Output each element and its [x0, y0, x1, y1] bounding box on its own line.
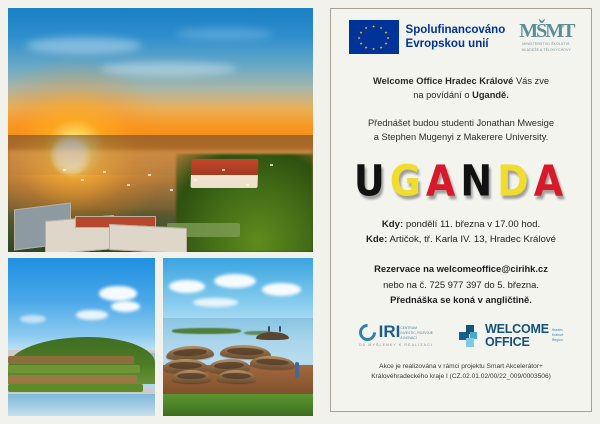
- invitation-line1: Welcome Office Hradec Králové Vás zve: [345, 74, 577, 88]
- lecturers-text: Přednášet budou studenti Jonathan Mwesig…: [345, 116, 577, 145]
- ministry-name-line1: MINISTERSTVO ŠKOLSTVÍ,: [522, 42, 570, 47]
- event-when: Kdy: pondělí 11. března v 17.00 hod.: [345, 217, 577, 232]
- invitation-rest: Vás zve: [513, 76, 549, 86]
- uganda-letter-1: G: [390, 156, 426, 205]
- fisherman: [268, 326, 270, 332]
- when-label: Kdy:: [382, 219, 403, 230]
- eu-flag-icon: [349, 20, 399, 54]
- person-standing: [295, 362, 299, 378]
- welcome-office-sub3: Region: [552, 338, 564, 343]
- event-details: Kdy: pondělí 11. března v 17.00 hod. Kde…: [345, 217, 577, 248]
- terrace-band: [8, 356, 134, 364]
- poster: Spolufinancováno Evropskou unií MŠMT MIN…: [0, 0, 600, 424]
- invitation-line2-pre: na povídání o: [413, 90, 472, 100]
- cloud: [169, 280, 205, 293]
- distant-boat: [256, 332, 289, 340]
- grass-foreground: [163, 394, 313, 416]
- fishing-canoes-photo: [163, 258, 313, 416]
- ministry-name-line2: MLÁDEŽE A TĚLOVÝCHOVY: [522, 48, 571, 53]
- where-label: Kde:: [366, 234, 387, 245]
- invitation-line2: na povídání o Ugandě.: [345, 88, 577, 102]
- terrace-band: [8, 375, 137, 383]
- partner-logo-bar: IRI CENTRUM INVESTIC, ROZVOJE A INOVACÍ …: [331, 323, 591, 349]
- terrace-band: [8, 384, 143, 392]
- ciri-fullname-line3: A INOVACÍ: [400, 336, 433, 341]
- uganda-letter-3: N: [460, 156, 497, 205]
- cloud: [20, 315, 46, 323]
- cloud-wisp: [100, 62, 237, 77]
- funding-logo-bar: Spolufinancováno Evropskou unií MŠMT MIN…: [331, 9, 591, 58]
- fisherman: [279, 326, 281, 332]
- organizer-name: Welcome Office Hradec Králové: [373, 76, 513, 86]
- lecturers-line2: a Stephen Mugenyi z Makerere University.: [345, 130, 577, 144]
- cloud: [193, 298, 238, 307]
- welcome-office-logo: WELCOME OFFICE Hradec Králové Region: [459, 323, 563, 349]
- ciri-tagline: OD MYŠLENKY K REALIZACI: [359, 343, 433, 347]
- reservation-phone-line: nebo na č. 725 977 397 do 5. března.: [345, 277, 577, 292]
- ciri-c-icon: [355, 321, 379, 345]
- terraced-hills-photo: [8, 258, 155, 416]
- when-value: pondělí 11. března v 17.00 hod.: [403, 219, 540, 230]
- uganda-letter-0: U: [354, 156, 390, 205]
- ministry-logo: MŠMT MINISTERSTVO ŠKOLSTVÍ, MLÁDEŽE A TĚ…: [519, 21, 573, 53]
- eu-funding-logo: Spolufinancováno Evropskou unií: [349, 20, 506, 54]
- rooftop: [109, 224, 187, 252]
- welcome-office-line1: WELCOME: [485, 323, 549, 336]
- uganda-letter-5: A: [534, 156, 568, 205]
- event-where: Kde: Artičok, tř. Karla IV. 13, Hradec K…: [345, 232, 577, 247]
- uganda-letter-4: D: [497, 156, 534, 205]
- info-panel: Spolufinancováno Evropskou unií MŠMT MIN…: [330, 8, 592, 412]
- canoe: [217, 370, 256, 383]
- lake-foreground: [8, 394, 155, 416]
- project-footer-line1: Akce je realizována v rámci projektu Sma…: [341, 362, 581, 373]
- where-value: Artičok, tř. Karla IV. 13, Hradec Králov…: [387, 234, 556, 245]
- eu-funding-line1: Spolufinancováno: [406, 23, 506, 37]
- lecturers-line1: Přednášet budou studenti Jonathan Mwesig…: [345, 116, 577, 130]
- project-footer: Akce je realizována v rámci projektu Sma…: [341, 362, 581, 383]
- language-note: Přednáška se koná v angličtině.: [345, 292, 577, 307]
- invitation-text: Welcome Office Hradec Králové Vás zve na…: [345, 74, 577, 103]
- ciri-logo: IRI CENTRUM INVESTIC, ROZVOJE A INOVACÍ …: [359, 324, 433, 347]
- ciri-fullname: CENTRUM INVESTIC, ROZVOJE A INOVACÍ: [400, 326, 433, 341]
- cloud: [262, 283, 301, 296]
- uganda-title: UGANDA: [331, 159, 591, 203]
- project-footer-line2: Královéhradeckého kraje I (CZ.02.01.02/0…: [341, 372, 581, 383]
- topic-name: Ugandě.: [472, 90, 509, 100]
- cloud: [214, 274, 256, 288]
- welcome-office-line2: OFFICE: [485, 336, 549, 349]
- reservation-email[interactable]: Rezervace na welcomeoffice@cirihk.cz: [374, 263, 548, 274]
- cloud: [99, 286, 137, 300]
- uganda-letter-2: A: [426, 156, 460, 205]
- cloud: [76, 310, 108, 319]
- plus-cross-icon: [459, 325, 481, 347]
- msmt-monogram: MŠMT: [519, 21, 573, 41]
- cloud-wisp: [176, 28, 274, 40]
- eu-funding-text: Spolufinancováno Evropskou unií: [406, 23, 506, 51]
- reservation-email-line: Rezervace na welcomeoffice@cirihk.cz: [345, 261, 577, 276]
- terrace-band: [8, 365, 140, 373]
- canoe: [172, 370, 211, 383]
- ciri-letters: IRI: [379, 324, 401, 340]
- reservation-text: Rezervace na welcomeoffice@cirihk.cz neb…: [345, 261, 577, 307]
- cloud: [111, 301, 140, 312]
- photo-collage: [0, 0, 320, 424]
- language-note-text: Přednáška se koná v angličtině.: [390, 294, 532, 305]
- eu-funding-line2: Evropskou unií: [406, 37, 506, 51]
- water-weed: [172, 328, 241, 334]
- kampala-sunset-photo: [8, 8, 313, 252]
